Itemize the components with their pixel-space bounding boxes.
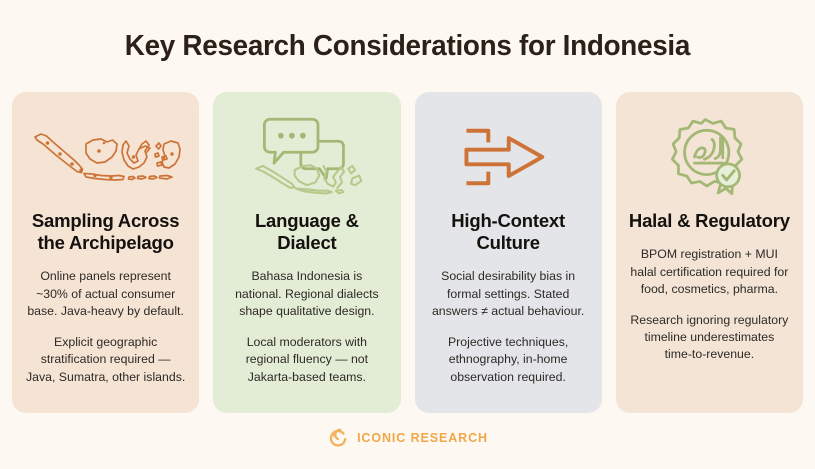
brand-name: ICONIC RESEARCH: [357, 431, 488, 445]
card-language: Language & Dialect Bahasa Indonesia is n…: [213, 92, 400, 413]
speech-bubbles-map-icon: [252, 115, 362, 199]
card-title: High-Context Culture: [427, 210, 590, 254]
infographic-page: Key Research Considerations for Indonesi…: [0, 0, 815, 469]
card-paragraph-1: Social desirability bias in formal setti…: [427, 268, 590, 320]
card-sampling: Sampling Across the Archipelago Online p…: [12, 92, 199, 413]
iconic-research-spiral-logo: [327, 427, 349, 449]
card-paragraph-1: Bahasa Indonesia is national. Regional d…: [225, 268, 388, 320]
card-title: Sampling Across the Archipelago: [24, 210, 187, 254]
card-paragraph-1: BPOM registration + MUI halal certificat…: [628, 246, 791, 298]
card-icon-slot: [31, 114, 181, 200]
footer-branding: ICONIC RESEARCH: [0, 413, 815, 469]
card-icon-slot: [460, 114, 556, 200]
card-icon-slot: [667, 114, 751, 200]
card-title: Halal & Regulatory: [629, 210, 790, 232]
title-section: Key Research Considerations for Indonesi…: [0, 0, 815, 92]
card-paragraph-1: Online panels represent ~30% of actual c…: [24, 268, 187, 320]
card-halal: Halal & Regulatory BPOM registration + M…: [616, 92, 803, 413]
indonesia-map-icon: [31, 126, 181, 188]
card-title: Language & Dialect: [225, 210, 388, 254]
cards-row: Sampling Across the Archipelago Online p…: [0, 92, 815, 413]
halal-seal-icon: [667, 115, 751, 199]
page-title: Key Research Considerations for Indonesi…: [125, 30, 690, 63]
card-paragraph-2: Projective techniques, ethnography, in-h…: [427, 334, 590, 386]
card-paragraph-2: Research ignoring regulatory timeline un…: [628, 312, 791, 364]
card-paragraph-2: Local moderators with regional fluency —…: [225, 334, 388, 386]
card-icon-slot: [252, 114, 362, 200]
card-high-context: High-Context Culture Social desirability…: [415, 92, 602, 413]
card-paragraph-2: Explicit geographic stratification requi…: [24, 334, 187, 386]
converging-arrow-icon: [460, 122, 556, 192]
